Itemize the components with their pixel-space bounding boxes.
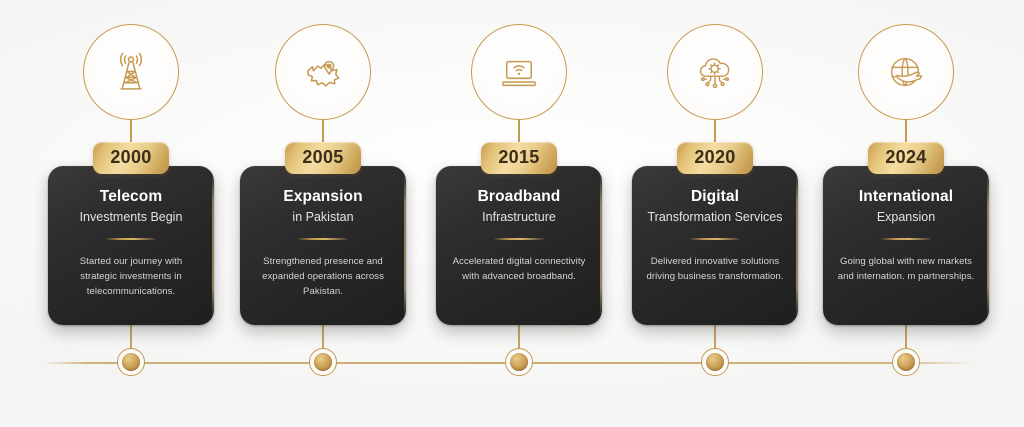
card-divider (690, 238, 740, 240)
timeline-graphic: 2000 Telecom Investments Begin Started o… (0, 0, 1024, 427)
year-badge[interactable]: 2015 (481, 142, 557, 174)
milestone-card[interactable]: Telecom Investments Begin Started our jo… (48, 166, 214, 325)
year-badge[interactable]: 2000 (93, 142, 169, 174)
card-subtitle: Investments Begin (61, 210, 201, 225)
timeline-marker[interactable] (505, 348, 533, 376)
milestone-card[interactable]: Broadband Infrastructure Accelerated dig… (436, 166, 602, 325)
card-divider (298, 238, 348, 240)
card-subtitle: Infrastructure (449, 210, 589, 225)
globe-airplane-icon (858, 24, 954, 120)
card-description: Going global with new markets and intern… (836, 254, 976, 284)
card-description: Accelerated digital connectivity with ad… (449, 254, 589, 284)
timeline-marker[interactable] (701, 348, 729, 376)
timeline-marker[interactable] (309, 348, 337, 376)
card-divider (881, 238, 931, 240)
timeline-marker-core (122, 353, 140, 371)
year-badge[interactable]: 2024 (868, 142, 944, 174)
card-subtitle: Transformation Services (645, 210, 785, 225)
timeline-marker[interactable] (892, 348, 920, 376)
card-title: Broadband (449, 188, 589, 206)
card-divider (494, 238, 544, 240)
timeline-marker-core (510, 353, 528, 371)
milestone-card[interactable]: Expansion in Pakistan Strengthened prese… (240, 166, 406, 325)
card-title: Digital (645, 188, 785, 206)
card-description: Delivered innovative solutions driving b… (645, 254, 785, 284)
timeline-marker-core (314, 353, 332, 371)
timeline-marker-core (706, 353, 724, 371)
card-divider (106, 238, 156, 240)
laptop-wifi-icon (471, 24, 567, 120)
card-title: International (836, 188, 976, 206)
map-location-pin-icon (275, 24, 371, 120)
telecom-tower-icon (83, 24, 179, 120)
timeline-marker-core (897, 353, 915, 371)
card-subtitle: in Pakistan (253, 210, 393, 225)
card-description: Started our journey with strategic inves… (61, 254, 201, 299)
timeline-marker[interactable] (117, 348, 145, 376)
year-badge[interactable]: 2020 (677, 142, 753, 174)
year-badge[interactable]: 2005 (285, 142, 361, 174)
card-title: Expansion (253, 188, 393, 206)
milestone-card[interactable]: Digital Transformation Services Delivere… (632, 166, 798, 325)
card-subtitle: Expansion (836, 210, 976, 225)
card-title: Telecom (61, 188, 201, 206)
milestone-card[interactable]: International Expansion Going global wit… (823, 166, 989, 325)
cloud-gear-network-icon (667, 24, 763, 120)
card-description: Strengthened presence and expanded opera… (253, 254, 393, 299)
